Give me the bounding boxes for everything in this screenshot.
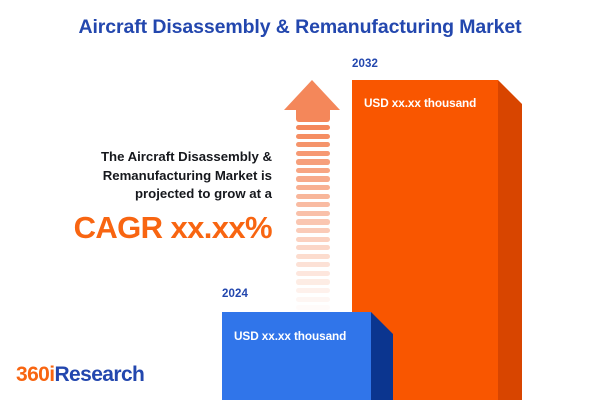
arrow-stripe [296, 288, 330, 293]
arrow-stripe [296, 176, 330, 181]
logo-mark-text: 360i [16, 363, 54, 386]
bar-2024-value-label: USD xx.xx thousand [234, 329, 370, 343]
arrow-stripe [296, 125, 330, 130]
arrow-stripe [296, 168, 330, 173]
market-growth-infographic: Aircraft Disassembly & Remanufacturing M… [0, 0, 600, 400]
arrow-stripe [296, 245, 330, 250]
statement-text: The Aircraft Disassembly & Remanufacturi… [40, 148, 272, 204]
arrow-stripe [296, 185, 330, 190]
arrow-stripe [296, 237, 330, 242]
arrow-stripes [296, 125, 330, 286]
arrow-stripe [296, 279, 330, 284]
arrow-neck [296, 109, 330, 122]
arrow-stripe [296, 202, 330, 207]
arrow-stripe [296, 254, 330, 259]
bar-2032-side-face [498, 80, 522, 400]
arrow-head-icon [284, 80, 340, 110]
cagr-value: CAGR xx.xx% [40, 212, 272, 245]
page-title: Aircraft Disassembly & Remanufacturing M… [0, 16, 600, 39]
arrow-stripe [296, 305, 330, 310]
arrow-stripe [296, 271, 330, 276]
arrow-stripe [296, 228, 330, 233]
arrow-stripe [296, 211, 330, 216]
logo-word-text: Research [54, 363, 144, 386]
arrow-stripe [296, 159, 330, 164]
statement-block: The Aircraft Disassembly & Remanufacturi… [40, 148, 272, 245]
arrow-stripe [296, 194, 330, 199]
bar-2024-year-label: 2024 [222, 288, 248, 300]
arrow-stripe [296, 151, 330, 156]
bar-2032-year-label: 2032 [352, 58, 378, 70]
arrow-stripe [296, 262, 330, 267]
brand-logo: 360iResearch [16, 363, 144, 387]
bar-2024-front-face [222, 312, 371, 400]
bar-2032-value-label: USD xx.xx thousand [364, 96, 490, 110]
arrow-stripe [296, 297, 330, 302]
arrow-stripe [296, 134, 330, 139]
up-arrow-icon [284, 80, 341, 286]
arrow-stripe [296, 219, 330, 224]
arrow-stripe [296, 142, 330, 147]
